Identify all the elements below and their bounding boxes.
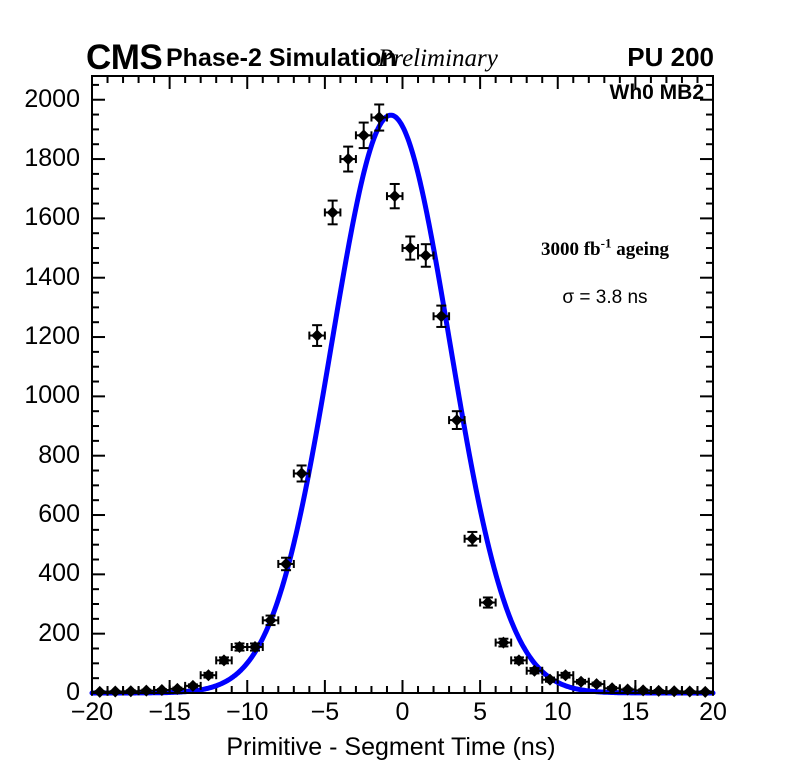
data-points xyxy=(92,104,713,697)
data-point xyxy=(465,532,481,546)
plot-area xyxy=(0,0,796,772)
data-point xyxy=(573,676,589,688)
data-point xyxy=(558,669,574,681)
data-point xyxy=(496,637,512,649)
data-point xyxy=(511,654,527,666)
data-point xyxy=(480,597,496,609)
data-point xyxy=(403,236,419,259)
data-point xyxy=(201,669,217,681)
plot-frame xyxy=(92,76,713,693)
data-point xyxy=(371,104,387,130)
data-point xyxy=(682,686,698,698)
data-point xyxy=(589,678,605,690)
data-point xyxy=(108,686,124,698)
data-point xyxy=(356,123,372,149)
data-point xyxy=(387,184,403,208)
data-point xyxy=(309,325,325,346)
data-point xyxy=(232,641,248,653)
data-point xyxy=(92,686,108,698)
axis-ticks xyxy=(92,76,713,693)
data-point xyxy=(325,201,341,225)
data-point xyxy=(263,614,279,626)
data-point xyxy=(340,147,356,172)
plot-canvas: CMS Phase-2 Simulation Preliminary PU 20… xyxy=(0,0,796,772)
data-point xyxy=(697,686,713,698)
gaussian-fit-curve xyxy=(92,115,713,693)
data-point xyxy=(216,654,232,666)
